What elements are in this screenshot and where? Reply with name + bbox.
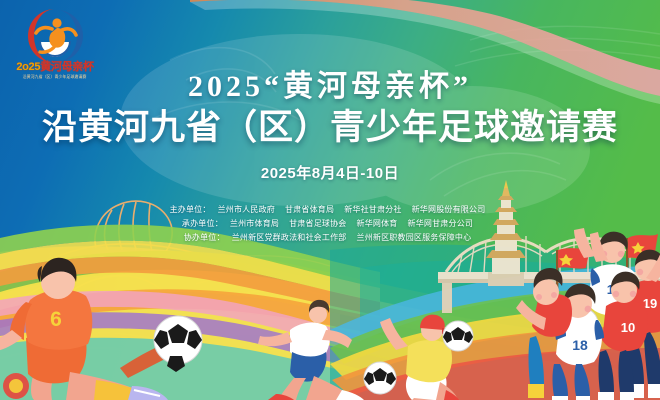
headline-block: 2025“黄河母亲杯” 沿黄河九省（区）青少年足球邀请赛 2025年8月4日-1… <box>0 70 660 183</box>
organizer-item: 兰州新区职教园区服务保障中心 <box>357 233 472 242</box>
organizer-item: 新华网体育 <box>357 219 398 228</box>
organizer-item: 新华网股份有限公司 <box>412 205 486 214</box>
poster-canvas: 2o25黄河母亲杯 沿黄河九省（区）青少年足球邀请赛 2025“黄河母亲杯” 沿… <box>0 0 660 400</box>
organizer-item: 新华社甘肃分社 <box>344 205 401 214</box>
organizer-row: 主办单位：兰州市人民政府甘肃省体育局新华社甘肃分社新华网股份有限公司 <box>0 203 660 217</box>
organizer-label: 主办单位： <box>170 205 211 214</box>
organizer-item: 兰州新区党群政法和社会工作部 <box>232 233 347 242</box>
title-line-1: 2025“黄河母亲杯” <box>0 70 660 103</box>
organizer-item: 新华网甘肃分公司 <box>408 219 474 228</box>
background-layer <box>0 0 660 400</box>
event-date: 2025年8月4日-10日 <box>0 162 660 183</box>
title-line-2: 沿黄河九省（区）青少年足球邀请赛 <box>0 109 660 148</box>
organizer-item: 甘肃省足球协会 <box>289 219 346 228</box>
organizer-label: 协办单位： <box>184 233 225 242</box>
organizer-item: 兰州市人民政府 <box>218 205 275 214</box>
organizer-label: 承办单位： <box>182 219 223 228</box>
organizer-row: 协办单位：兰州新区党群政法和社会工作部兰州新区职教园区服务保障中心 <box>0 231 660 245</box>
organizer-item: 甘肃省体育局 <box>285 205 334 214</box>
organizer-item: 兰州市体育局 <box>230 219 279 228</box>
organizer-row: 承办单位：兰州市体育局甘肃省足球协会新华网体育新华网甘肃分公司 <box>0 217 660 231</box>
organizers-block: 主办单位：兰州市人民政府甘肃省体育局新华社甘肃分社新华网股份有限公司承办单位：兰… <box>0 203 660 245</box>
